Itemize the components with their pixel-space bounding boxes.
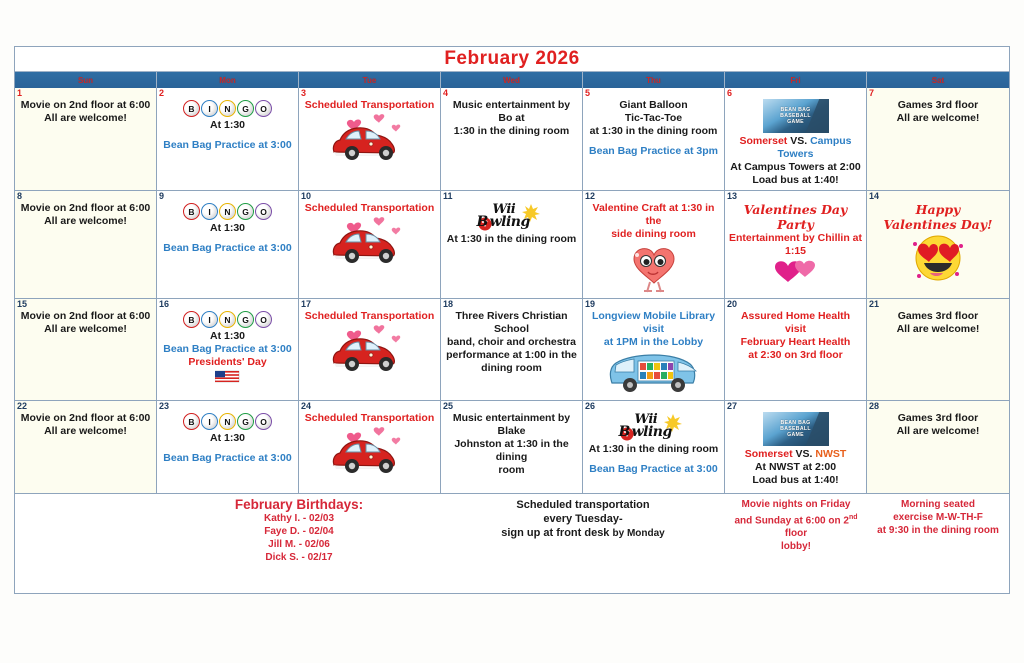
event-text: At 1:30 in the dining room <box>587 443 720 456</box>
event-text: Scheduled Transportation <box>303 310 436 323</box>
footer-movie-nights: Movie nights on Friday and Sunday at 6:0… <box>725 494 867 594</box>
movie-nights-line-1: Movie nights on Friday <box>728 498 864 511</box>
bingo-ball-b: B <box>183 311 200 328</box>
day-number: 3 <box>301 88 306 99</box>
event-text: Assured Home Health visit <box>729 310 862 336</box>
day-number: 9 <box>159 191 164 202</box>
day-cell-12[interactable]: 12Valentine Craft at 1:30 in theside din… <box>583 191 725 298</box>
bingo-ball-n: N <box>219 413 236 430</box>
bingo-ball-g: G <box>237 413 254 430</box>
bingo-ball-n: N <box>219 311 236 328</box>
event-text: Giant Balloon <box>587 99 720 112</box>
event-text: band, choir and orchestra <box>445 336 578 349</box>
heart-character-illustration <box>587 241 720 295</box>
event-text: Longview Mobile Library visit <box>587 310 720 336</box>
event-text: at 2:30 on 3rd floor <box>729 349 862 362</box>
event-text: Scheduled Transportation <box>303 99 436 112</box>
heart-eyes-emoji <box>871 232 1005 284</box>
day-number: 20 <box>727 299 737 310</box>
day-header-fri: Fri <box>725 72 867 88</box>
day-cell-25[interactable]: 25Music entertainment by BlakeJohnston a… <box>441 401 583 493</box>
day-cell-8[interactable]: 8Movie on 2nd floor at 6:00All are welco… <box>15 191 157 298</box>
day-cell-11[interactable]: 11 Wii B wling At 1:30 in the dining roo… <box>441 191 583 298</box>
bingo-ball-b: B <box>183 413 200 430</box>
day-header-mon: Mon <box>157 72 299 88</box>
event-text: Movie on 2nd floor at 6:00 <box>19 99 152 112</box>
day-header-wed: Wed <box>441 72 583 88</box>
bingo-ball-o: O <box>255 311 272 328</box>
transportation-line-1: Scheduled transportation <box>444 498 722 512</box>
calendar-footer: February Birthdays: Kathy I. - 02/03 Fay… <box>15 494 1009 594</box>
bingo-ball-g: G <box>237 203 254 220</box>
event-text: Entertainment by Chillin at <box>729 232 862 245</box>
page-title: February 2026 <box>444 48 579 70</box>
wii-logo-bottom: B wling <box>477 214 530 230</box>
birthday-entry: Faye D. - 02/04 <box>160 525 438 538</box>
event-text: room <box>445 464 578 477</box>
wii-bowling-logo: Wii B wling <box>469 202 555 232</box>
day-number: 19 <box>585 299 595 310</box>
event-text: at 1PM in the Lobby <box>587 336 720 349</box>
bingo-ball-i: I <box>201 311 218 328</box>
bingo-balls: BINGO <box>183 203 272 220</box>
versus-line: Somerset VS. NWST <box>729 448 862 461</box>
event-text: All are welcome! <box>871 112 1005 125</box>
event-text: 1:30 in the dining room <box>445 125 578 138</box>
bean-bag-logo-text: BEAN BAGBASEBALLGAME <box>780 107 811 125</box>
day-number: 2 <box>159 88 164 99</box>
week-row: 8Movie on 2nd floor at 6:00All are welco… <box>15 191 1009 299</box>
day-cell-18[interactable]: 18Three Rivers Christian Schoolband, cho… <box>441 299 583 400</box>
script-heading: Party <box>729 217 862 232</box>
american-flag-icon <box>161 369 294 385</box>
event-text: side dining room <box>587 228 720 241</box>
day-cell-28[interactable]: 28Games 3rd floorAll are welcome! <box>867 401 1009 493</box>
car-illustration <box>303 323 436 375</box>
day-cell-27[interactable]: 27 BEAN BAGBASEBALLGAME Somerset VS. NWS… <box>725 401 867 493</box>
day-number: 26 <box>585 401 595 412</box>
birthday-entry: Dick S. - 02/17 <box>160 551 438 564</box>
calendar-title-bar: February 2026 <box>15 47 1009 72</box>
exercise-line-2: exercise M-W-TH-F <box>870 511 1006 524</box>
event-text: Games 3rd floor <box>871 310 1005 323</box>
day-of-week-header: SunMonTueWedThuFriSat <box>15 72 1009 88</box>
footer-spacer-left <box>15 494 157 594</box>
movie-nights-line-3: lobby! <box>728 540 864 553</box>
bingo-balls: BINGO <box>183 311 272 328</box>
versus-away-team: NWST <box>815 448 846 460</box>
script-heading: Valentines Day <box>729 202 862 217</box>
week-row: 22Movie on 2nd floor at 6:00All are welc… <box>15 401 1009 494</box>
event-text: Load bus at 1:40! <box>729 474 862 487</box>
day-number: 4 <box>443 88 448 99</box>
script-heading: Valentines Day! <box>871 217 1005 232</box>
transportation-line-2: every Tuesday- <box>444 512 722 526</box>
day-number: 1 <box>17 88 22 99</box>
event-text: At 1:30 <box>161 432 294 445</box>
day-cell-20[interactable]: 20Assured Home Health visitFebruary Hear… <box>725 299 867 400</box>
day-cell-6[interactable]: 6 BEAN BAGBASEBALLGAME Somerset VS. Camp… <box>725 88 867 190</box>
day-number: 14 <box>869 191 879 202</box>
day-cell-24[interactable]: 24Scheduled Transportation <box>299 401 441 493</box>
day-header-sat: Sat <box>867 72 1009 88</box>
transportation-line-3-b: by Monday <box>613 528 665 539</box>
day-cell-23[interactable]: 23BINGOAt 1:30Bean Bag Practice at 3:00 <box>157 401 299 493</box>
day-number: 13 <box>727 191 737 202</box>
day-cell-3[interactable]: 3Scheduled Transportation <box>299 88 441 190</box>
event-text: All are welcome! <box>19 425 152 438</box>
bingo-ball-g: G <box>237 311 254 328</box>
bean-bag-baseball-logo: BEAN BAGBASEBALLGAME <box>763 99 829 133</box>
event-text: Movie on 2nd floor at 6:00 <box>19 202 152 215</box>
bingo-ball-g: G <box>237 100 254 117</box>
event-text: At 1:30 <box>161 119 294 132</box>
event-text: Bean Bag Practice at 3:00 <box>587 463 720 476</box>
bingo-ball-o: O <box>255 413 272 430</box>
event-text: Movie on 2nd floor at 6:00 <box>19 412 152 425</box>
event-text: Bean Bag Practice at 3:00 <box>161 452 294 465</box>
versus-home-team: Somerset <box>745 448 793 460</box>
event-text: All are welcome! <box>19 323 152 336</box>
day-number: 28 <box>869 401 879 412</box>
event-text: All are welcome! <box>19 215 152 228</box>
event-text: Music entertainment by Bo at <box>445 99 578 125</box>
event-text: Tic-Tac-Toe <box>587 112 720 125</box>
event-text: At 1:30 <box>161 222 294 235</box>
event-text: Bean Bag Practice at 3pm <box>587 145 720 158</box>
calendar-page: February 2026 SunMonTueWedThuFriSat 1Mov… <box>0 0 1024 663</box>
day-cell-26[interactable]: 26 Wii B wling At 1:30 in the dining roo… <box>583 401 725 493</box>
day-header-sun: Sun <box>15 72 157 88</box>
day-cell-13[interactable]: 13Valentines DayPartyEntertainment by Ch… <box>725 191 867 298</box>
day-number: 8 <box>17 191 22 202</box>
transportation-line-3-a: sign up at front desk <box>501 527 609 539</box>
birthdays-heading: February Birthdays: <box>160 498 438 512</box>
day-number: 12 <box>585 191 595 202</box>
versus-home-team: Somerset <box>739 135 787 147</box>
event-text: Bean Bag Practice at 3:00 <box>161 343 294 356</box>
event-text: At 1:30 <box>161 330 294 343</box>
event-text: At 1:30 in the dining room <box>445 233 578 246</box>
day-number: 7 <box>869 88 874 99</box>
day-cell-14[interactable]: 14HappyValentines Day! <box>867 191 1009 298</box>
day-cell-16[interactable]: 16BINGOAt 1:30Bean Bag Practice at 3:00P… <box>157 299 299 400</box>
day-header-tue: Tue <box>299 72 441 88</box>
event-text: Music entertainment by Blake <box>445 412 578 438</box>
exercise-line-1: Morning seated <box>870 498 1006 511</box>
event-text: All are welcome! <box>19 112 152 125</box>
event-text: Bean Bag Practice at 3:00 <box>161 242 294 255</box>
day-number: 5 <box>585 88 590 99</box>
bookmobile-illustration <box>587 349 720 397</box>
day-number: 16 <box>159 299 169 310</box>
day-cell-10[interactable]: 10Scheduled Transportation <box>299 191 441 298</box>
versus-label: VS. <box>796 448 813 460</box>
bingo-balls: BINGO <box>183 413 272 430</box>
day-cell-5[interactable]: 5Giant BalloonTic-Tac-Toeat 1:30 in the … <box>583 88 725 190</box>
event-text: February Heart Health <box>729 336 862 349</box>
day-number: 10 <box>301 191 311 202</box>
day-number: 15 <box>17 299 27 310</box>
day-cell-19[interactable]: 19Longview Mobile Library visitat 1PM in… <box>583 299 725 400</box>
bingo-ball-b: B <box>183 203 200 220</box>
wii-bowling-logo: Wii B wling <box>611 412 697 442</box>
day-cell-15[interactable]: 15Movie on 2nd floor at 6:00All are welc… <box>15 299 157 400</box>
footer-birthdays: February Birthdays: Kathy I. - 02/03 Fay… <box>157 494 441 594</box>
event-text: Scheduled Transportation <box>303 202 436 215</box>
bingo-ball-i: I <box>201 100 218 117</box>
weeks-grid: 1Movie on 2nd floor at 6:00All are welco… <box>15 88 1009 494</box>
versus-line: Somerset VS. Campus Towers <box>729 135 862 161</box>
bingo-ball-i: I <box>201 413 218 430</box>
day-number: 24 <box>301 401 311 412</box>
script-heading: Happy <box>871 202 1005 217</box>
day-number: 22 <box>17 401 27 412</box>
event-text: 1:15 <box>729 245 862 258</box>
pink-hearts-illustration <box>729 258 862 284</box>
exercise-line-3: at 9:30 in the dining room <box>870 524 1006 537</box>
event-text: Load bus at 1:40! <box>729 174 862 187</box>
transportation-line-3: sign up at front desk by Monday <box>444 526 722 541</box>
bingo-ball-o: O <box>255 203 272 220</box>
bingo-ball-b: B <box>183 100 200 117</box>
footer-exercise: Morning seated exercise M-W-TH-F at 9:30… <box>867 494 1009 594</box>
day-header-thu: Thu <box>583 72 725 88</box>
event-text: at 1:30 in the dining room <box>587 125 720 138</box>
car-illustration <box>303 112 436 164</box>
event-text: performance at 1:00 in the <box>445 349 578 362</box>
event-text: All are welcome! <box>871 323 1005 336</box>
event-text: At NWST at 2:00 <box>729 461 862 474</box>
event-text: At Campus Towers at 2:00 <box>729 161 862 174</box>
day-cell-21[interactable]: 21Games 3rd floorAll are welcome! <box>867 299 1009 400</box>
bingo-ball-n: N <box>219 100 236 117</box>
event-text: Scheduled Transportation <box>303 412 436 425</box>
bingo-ball-o: O <box>255 100 272 117</box>
day-number: 18 <box>443 299 453 310</box>
day-number: 6 <box>727 88 732 99</box>
bingo-balls: BINGO <box>183 100 272 117</box>
birthday-entry: Kathy I. - 02/03 <box>160 512 438 525</box>
week-row: 15Movie on 2nd floor at 6:00All are welc… <box>15 299 1009 401</box>
day-cell-7[interactable]: 7Games 3rd floorAll are welcome! <box>867 88 1009 190</box>
calendar-sheet: February 2026 SunMonTueWedThuFriSat 1Mov… <box>14 46 1010 594</box>
event-text: Three Rivers Christian School <box>445 310 578 336</box>
day-cell-9[interactable]: 9BINGOAt 1:30Bean Bag Practice at 3:00 <box>157 191 299 298</box>
day-cell-1[interactable]: 1Movie on 2nd floor at 6:00All are welco… <box>15 88 157 190</box>
day-number: 27 <box>727 401 737 412</box>
versus-away-team: Campus Towers <box>778 135 852 160</box>
event-text: All are welcome! <box>871 425 1005 438</box>
car-illustration <box>303 215 436 267</box>
day-number: 25 <box>443 401 453 412</box>
bingo-ball-i: I <box>201 203 218 220</box>
day-number: 11 <box>443 191 453 202</box>
event-text: dining room <box>445 362 578 375</box>
bingo-ball-n: N <box>219 203 236 220</box>
day-cell-4[interactable]: 4Music entertainment by Bo at1:30 in the… <box>441 88 583 190</box>
week-row: 1Movie on 2nd floor at 6:00All are welco… <box>15 88 1009 191</box>
day-cell-2[interactable]: 2BINGOAt 1:30Bean Bag Practice at 3:00 <box>157 88 299 190</box>
event-text: Games 3rd floor <box>871 99 1005 112</box>
event-text: Johnston at 1:30 in the dining <box>445 438 578 464</box>
day-number: 17 <box>301 299 311 310</box>
wii-logo-bottom: B wling <box>619 424 672 440</box>
day-number: 21 <box>869 299 879 310</box>
movie-nights-line-2: and Sunday at 6:00 on 2nd floor <box>728 511 864 540</box>
footer-transportation: Scheduled transportation every Tuesday- … <box>441 494 725 594</box>
event-text: Valentine Craft at 1:30 in the <box>587 202 720 228</box>
birthday-entry: Jill M. - 02/06 <box>160 538 438 551</box>
event-text: Movie on 2nd floor at 6:00 <box>19 310 152 323</box>
car-illustration <box>303 425 436 477</box>
event-text: Bean Bag Practice at 3:00 <box>161 139 294 152</box>
day-cell-17[interactable]: 17Scheduled Transportation <box>299 299 441 400</box>
bean-bag-logo-text: BEAN BAGBASEBALLGAME <box>780 420 811 438</box>
event-text: Games 3rd floor <box>871 412 1005 425</box>
bean-bag-baseball-logo: BEAN BAGBASEBALLGAME <box>763 412 829 446</box>
event-text: Presidents' Day <box>161 356 294 369</box>
day-cell-22[interactable]: 22Movie on 2nd floor at 6:00All are welc… <box>15 401 157 493</box>
versus-label: VS. <box>790 135 807 147</box>
day-number: 23 <box>159 401 169 412</box>
